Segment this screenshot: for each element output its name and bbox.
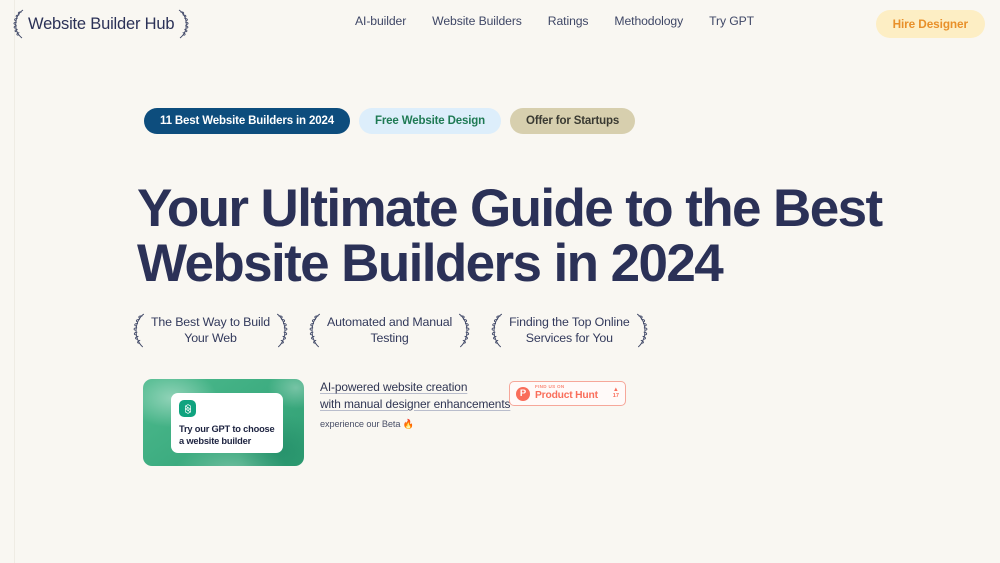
laurel-right-icon xyxy=(274,310,291,350)
laurel-left-icon xyxy=(306,310,323,350)
gpt-promo-card[interactable]: Try our GPT to choose a website builder xyxy=(143,379,304,466)
main-nav: AI-builder Website Builders Ratings Meth… xyxy=(355,14,754,28)
category-pills: 11 Best Website Builders in 2024 Free We… xyxy=(144,108,635,134)
laurel-left-icon xyxy=(130,310,147,350)
product-hunt-kicker: FIND US ON xyxy=(535,385,598,390)
product-hunt-upvotes: ▲ 17 xyxy=(613,387,619,400)
nav-item-ratings[interactable]: Ratings xyxy=(548,14,589,28)
product-hunt-texts: FIND US ON Product Hunt xyxy=(535,385,598,401)
product-hunt-badge[interactable]: P FIND US ON Product Hunt ▲ 17 xyxy=(509,381,626,406)
page-title: Your Ultimate Guide to the Best Website … xyxy=(137,182,897,291)
laurel-right-icon xyxy=(176,9,192,39)
site-header: Website Builder Hub AI-bu xyxy=(0,0,1000,45)
openai-logo-icon xyxy=(179,400,196,417)
laurel-badges: The Best Way to Build Your Web xyxy=(130,310,651,350)
laurel-right-icon xyxy=(456,310,473,350)
pill-free-website-design[interactable]: Free Website Design xyxy=(359,108,501,134)
upvote-count: 17 xyxy=(613,394,619,400)
badge-label: Automated and Manual Testing xyxy=(327,314,452,347)
nav-item-website-builders[interactable]: Website Builders xyxy=(432,14,522,28)
product-hunt-logo-icon: P xyxy=(516,387,530,401)
badge-automated-manual-testing: Automated and Manual Testing xyxy=(306,310,473,350)
page-root: Website Builder Hub AI-bu xyxy=(0,0,1000,563)
badge-best-way-to-build: The Best Way to Build Your Web xyxy=(130,310,291,350)
laurel-right-icon xyxy=(634,310,651,350)
site-logo[interactable]: Website Builder Hub xyxy=(10,9,192,39)
nav-item-methodology[interactable]: Methodology xyxy=(614,14,683,28)
logo-text: Website Builder Hub xyxy=(28,15,174,34)
beta-note: experience our Beta 🔥 xyxy=(320,419,510,430)
gpt-inner-card: Try our GPT to choose a website builder xyxy=(171,393,283,453)
nav-item-ai-builder[interactable]: AI-builder xyxy=(355,14,406,28)
hire-designer-button[interactable]: Hire Designer xyxy=(876,10,985,38)
left-edge-divider xyxy=(14,0,15,563)
gpt-card-label: Try our GPT to choose a website builder xyxy=(179,423,275,448)
laurel-left-icon xyxy=(10,9,26,39)
ai-description-line-2: with manual designer enhancements xyxy=(320,396,510,413)
pill-offer-for-startups[interactable]: Offer for Startups xyxy=(510,108,635,134)
nav-item-try-gpt[interactable]: Try GPT xyxy=(709,14,754,28)
pill-best-website-builders[interactable]: 11 Best Website Builders in 2024 xyxy=(144,108,350,134)
ai-description-line-1: AI-powered website creation xyxy=(320,379,510,396)
product-hunt-name: Product Hunt xyxy=(535,391,598,401)
ai-description-block: AI-powered website creation with manual … xyxy=(320,379,510,430)
badge-finding-top-online-services: Finding the Top Online Services for You xyxy=(488,310,650,350)
badge-label: The Best Way to Build Your Web xyxy=(151,314,270,347)
laurel-left-icon xyxy=(488,310,505,350)
badge-label: Finding the Top Online Services for You xyxy=(509,314,629,347)
